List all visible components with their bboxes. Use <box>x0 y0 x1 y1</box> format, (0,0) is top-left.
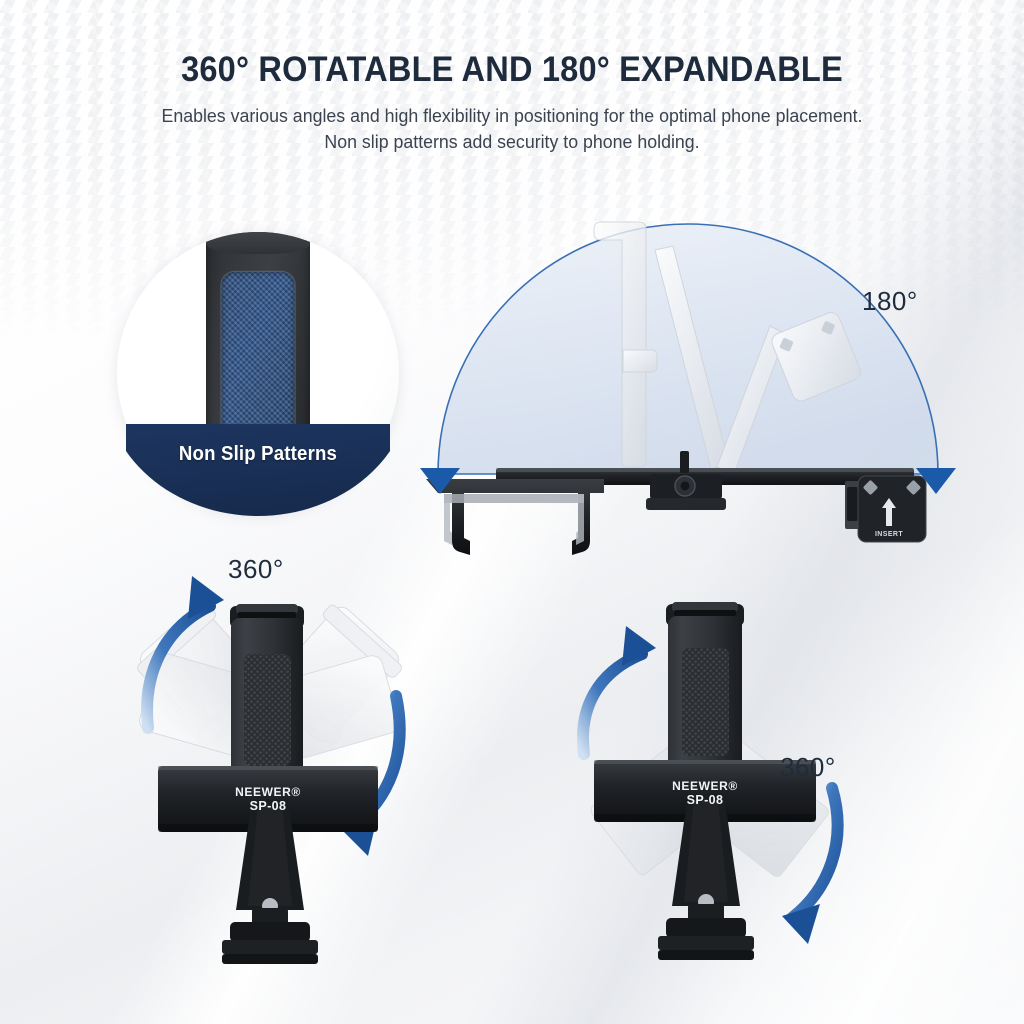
page-title: 360° ROTATABLE AND 180° EXPANDABLE <box>36 50 988 90</box>
plate-insert-label: INSERT <box>875 531 903 538</box>
diagram-360-left: NEEWER® SP-08 <box>118 556 448 996</box>
brand-label: NEEWER® <box>235 785 301 799</box>
diagram-360-right: NEEWER® SP-08 <box>556 576 886 1006</box>
label-180-degrees: 180° <box>862 286 918 317</box>
subtitle-line-1: Enables various angles and high flexibil… <box>162 105 863 126</box>
subtitle-line-2: Non slip patterns add security to phone … <box>20 129 1003 155</box>
quick-release-plate: INSERT <box>845 476 926 542</box>
brand-label: NEEWER® <box>672 779 738 793</box>
header: 360° ROTATABLE AND 180° EXPANDABLE Enabl… <box>0 0 1024 156</box>
diagram-360-right-svg: NEEWER® SP-08 <box>556 576 886 1006</box>
model-label: SP-08 <box>687 793 724 807</box>
model-label: SP-08 <box>250 799 287 813</box>
diagram-180-svg: INSERT <box>418 198 958 568</box>
label-360-degrees-right: 360° <box>780 752 836 783</box>
non-slip-callout: Non Slip Patterns <box>117 232 399 514</box>
infographic-canvas: 360° ROTATABLE AND 180° EXPANDABLE Enabl… <box>0 0 1024 1024</box>
diagram-360-left-svg: NEEWER® SP-08 <box>118 556 448 996</box>
callout-banner-label: Non Slip Patterns <box>135 443 381 466</box>
diagram-180-expandable: INSERT <box>418 198 958 568</box>
clamp-jaw-left <box>426 479 604 555</box>
subtitle: Enables various angles and high flexibil… <box>20 103 1003 156</box>
label-360-degrees-left: 360° <box>228 554 284 585</box>
rotation-arrow-left <box>583 626 656 754</box>
callout-banner: Non Slip Patterns <box>126 424 390 516</box>
